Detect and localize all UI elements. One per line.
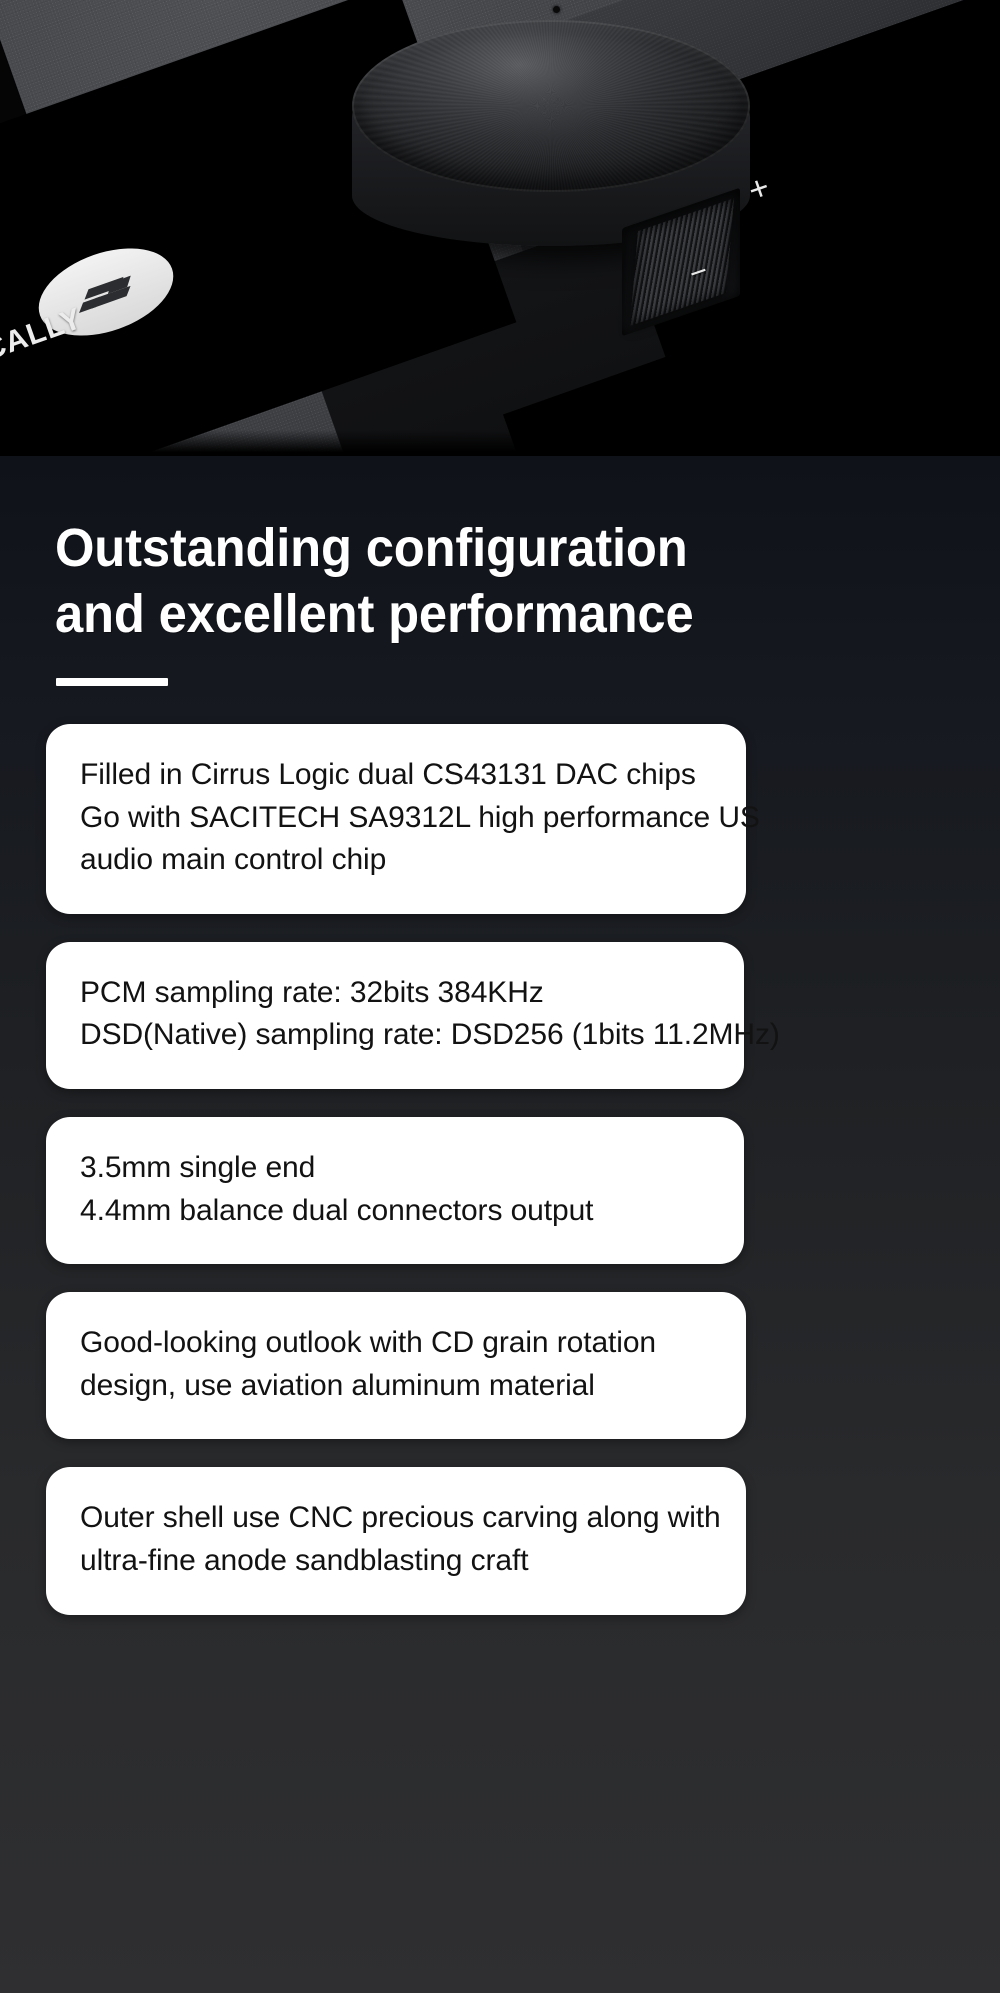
feature-line: Go with SACITECH SA9312L high performanc…: [80, 797, 712, 840]
feature-line: PCM sampling rate: 32bits 384KHz: [80, 972, 710, 1015]
feature-line: DSD(Native) sampling rate: DSD256 (1bits…: [80, 1014, 710, 1057]
feature-card-list: Filled in Cirrus Logic dual CS43131 DAC …: [0, 724, 1000, 1643]
section-heading: Outstanding configuration and excellent …: [55, 516, 863, 648]
feature-line: ultra-fine anode sandblasting craft: [80, 1540, 712, 1583]
hero-bottom-fade: [0, 430, 1000, 456]
feature-card-shell-craft: Outer shell use CNC precious carving alo…: [46, 1467, 746, 1614]
feature-card-chipset: Filled in Cirrus Logic dual CS43131 DAC …: [46, 724, 746, 914]
product-feature-page: + − CALLY Outstanding configuration and …: [0, 0, 1000, 1993]
feature-line: Outer shell use CNC precious carving alo…: [80, 1497, 712, 1540]
knob-rim: [352, 20, 750, 192]
status-indicator-dot-icon: [553, 6, 560, 13]
product-hero-image: + − CALLY: [0, 0, 1000, 456]
feature-line: Good-looking outlook with CD grain rotat…: [80, 1322, 712, 1365]
feature-line: 4.4mm balance dual connectors output: [80, 1190, 710, 1233]
feature-card-design-material: Good-looking outlook with CD grain rotat…: [46, 1292, 746, 1439]
feature-line: Filled in Cirrus Logic dual CS43131 DAC …: [80, 754, 712, 797]
feature-line: audio main control chip: [80, 839, 712, 882]
features-section: Outstanding configuration and excellent …: [0, 456, 1000, 1993]
feature-card-outputs: 3.5mm single end 4.4mm balance dual conn…: [46, 1117, 744, 1264]
feature-card-sampling-rate: PCM sampling rate: 32bits 384KHz DSD(Nat…: [46, 942, 744, 1089]
feature-line: design, use aviation aluminum material: [80, 1365, 712, 1408]
section-heading-line-1: Outstanding configuration: [55, 516, 863, 582]
feature-line: 3.5mm single end: [80, 1147, 710, 1190]
heading-accent-rule: [56, 678, 168, 686]
section-heading-line-2: and excellent performance: [55, 582, 863, 648]
